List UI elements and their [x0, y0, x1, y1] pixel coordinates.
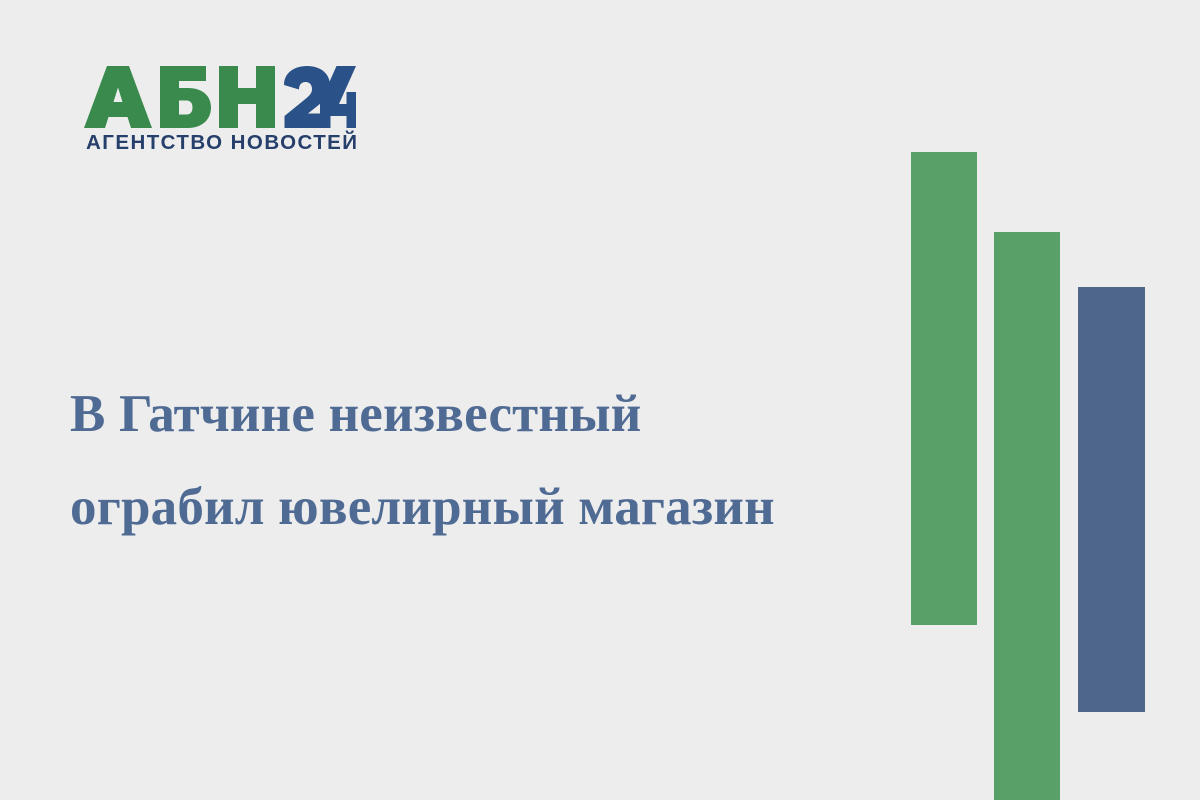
headline-line-1: В Гатчине неизвестный [70, 368, 870, 461]
decorative-bar-1 [911, 152, 977, 625]
headline-line-2: ограбил ювелирный магазин [70, 461, 870, 554]
abn24-logo[interactable]: АГЕНТСТВО НОВОСТЕЙ [84, 66, 384, 161]
decorative-bar-3 [1078, 287, 1145, 712]
news-card: АГЕНТСТВО НОВОСТЕЙ В Гатчине неизвестный… [0, 0, 1200, 800]
abn24-wordmark-icon [84, 66, 356, 128]
article-headline: В Гатчине неизвестный ограбил ювелирный … [70, 368, 870, 554]
decorative-bar-2 [994, 232, 1060, 800]
logo-tagline: АГЕНТСТВО НОВОСТЕЙ [86, 133, 384, 154]
